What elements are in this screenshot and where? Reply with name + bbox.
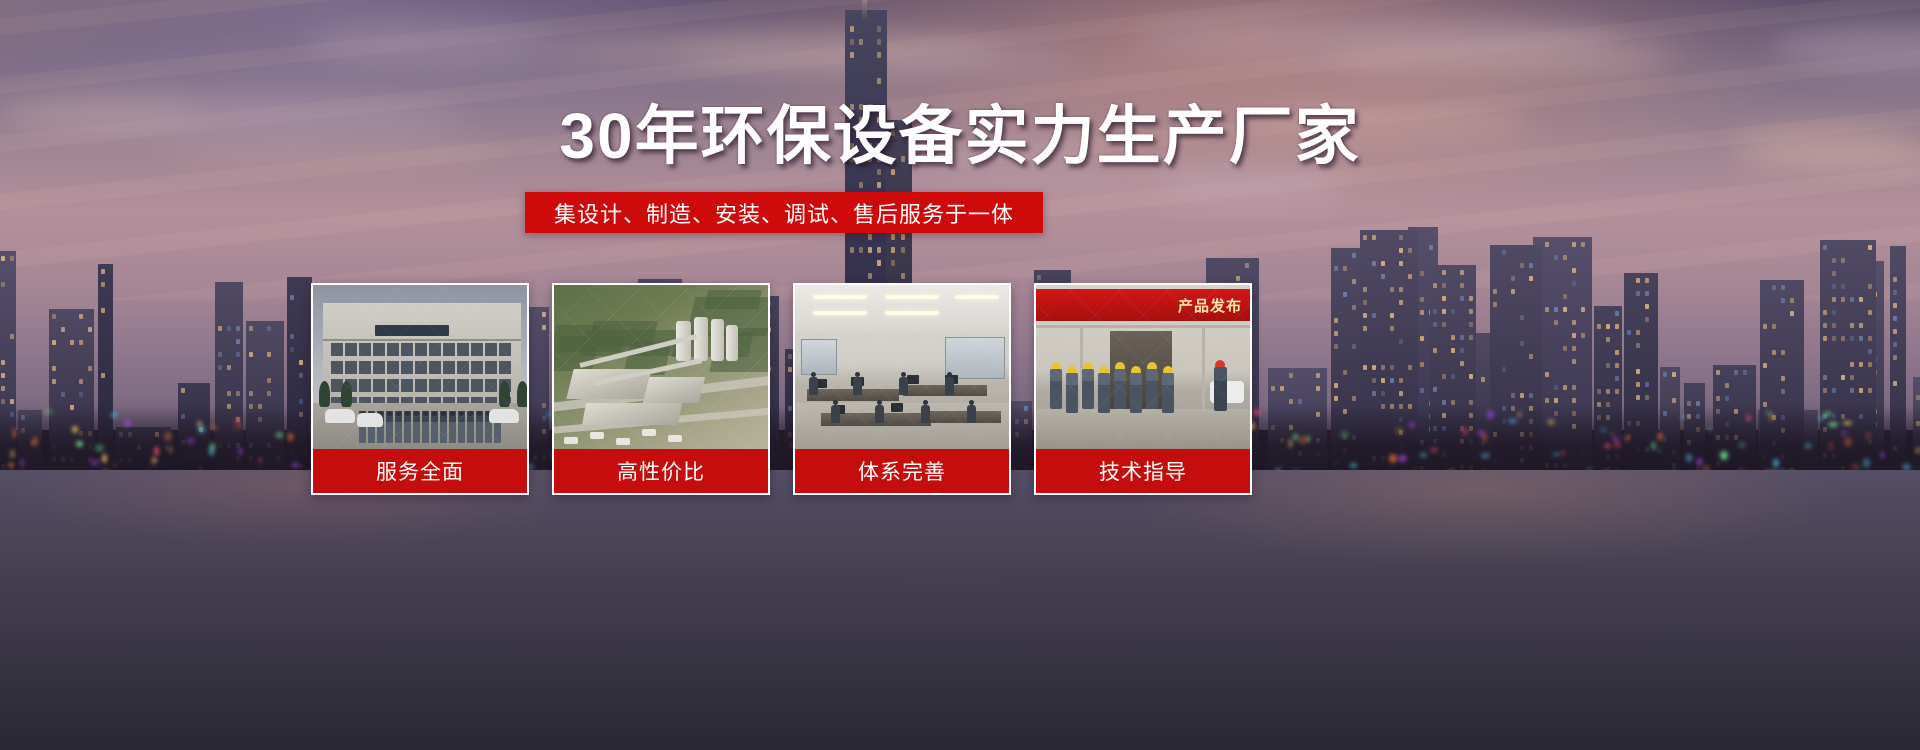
card-4-photo: 产品发布 bbox=[1036, 285, 1250, 449]
banner-headline: 30年环保设备实力生产厂家 bbox=[0, 100, 1920, 172]
factory-banner-text: 产品发布 bbox=[1036, 289, 1250, 321]
feature-card-list: 服务全面 高性价比 体系完善 bbox=[311, 283, 1311, 498]
feature-card-2[interactable]: 高性价比 bbox=[552, 283, 770, 495]
feature-card-1[interactable]: 服务全面 bbox=[311, 283, 529, 495]
card-2-caption: 高性价比 bbox=[554, 449, 768, 493]
feature-card-3[interactable]: 体系完善 bbox=[793, 283, 1011, 495]
card-4-caption: 技术指导 bbox=[1036, 449, 1250, 493]
card-3-caption: 体系完善 bbox=[795, 449, 1009, 493]
card-3-photo bbox=[795, 285, 1009, 449]
card-2-photo bbox=[554, 285, 768, 449]
feature-card-4[interactable]: 产品发布 技术指导 bbox=[1034, 283, 1252, 495]
banner-stage: 30年环保设备实力生产厂家 集设计、制造、安装、调试、售后服务于一体 服务全面 bbox=[0, 0, 1920, 750]
card-1-caption: 服务全面 bbox=[313, 449, 527, 493]
banner-subtitle-bar: 集设计、制造、安装、调试、售后服务于一体 bbox=[525, 192, 1043, 233]
office-building-shape bbox=[323, 303, 521, 407]
building-sign bbox=[375, 325, 449, 336]
banner-content: 30年环保设备实力生产厂家 集设计、制造、安装、调试、售后服务于一体 服务全面 bbox=[0, 0, 1920, 750]
banner-subtitle-text: 集设计、制造、安装、调试、售后服务于一体 bbox=[554, 197, 1014, 229]
factory-red-banner: 产品发布 bbox=[1036, 289, 1250, 321]
card-1-photo bbox=[313, 285, 527, 449]
